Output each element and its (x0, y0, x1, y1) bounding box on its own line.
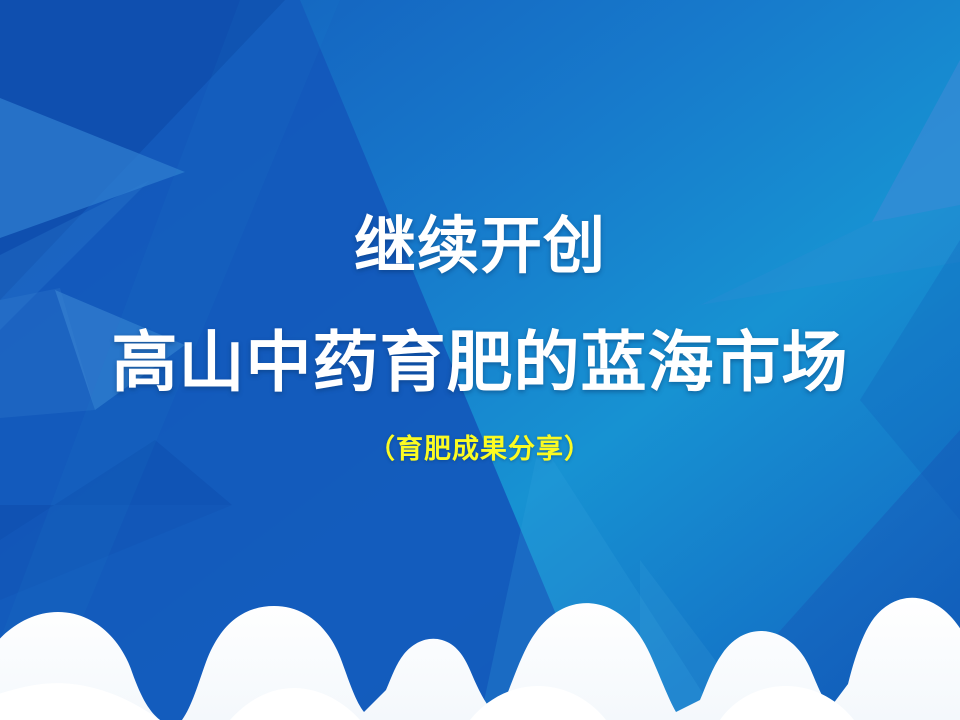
slide-content: 继续开创 高山中药育肥的蓝海市场 （育肥成果分享） (0, 0, 960, 720)
page-title-line-1: 继续开创 (0, 212, 960, 282)
title-slide: 继续开创 高山中药育肥的蓝海市场 （育肥成果分享） (0, 0, 960, 720)
page-title-line-2: 高山中药育肥的蓝海市场 (0, 325, 960, 399)
page-subtitle: （育肥成果分享） (0, 432, 960, 466)
